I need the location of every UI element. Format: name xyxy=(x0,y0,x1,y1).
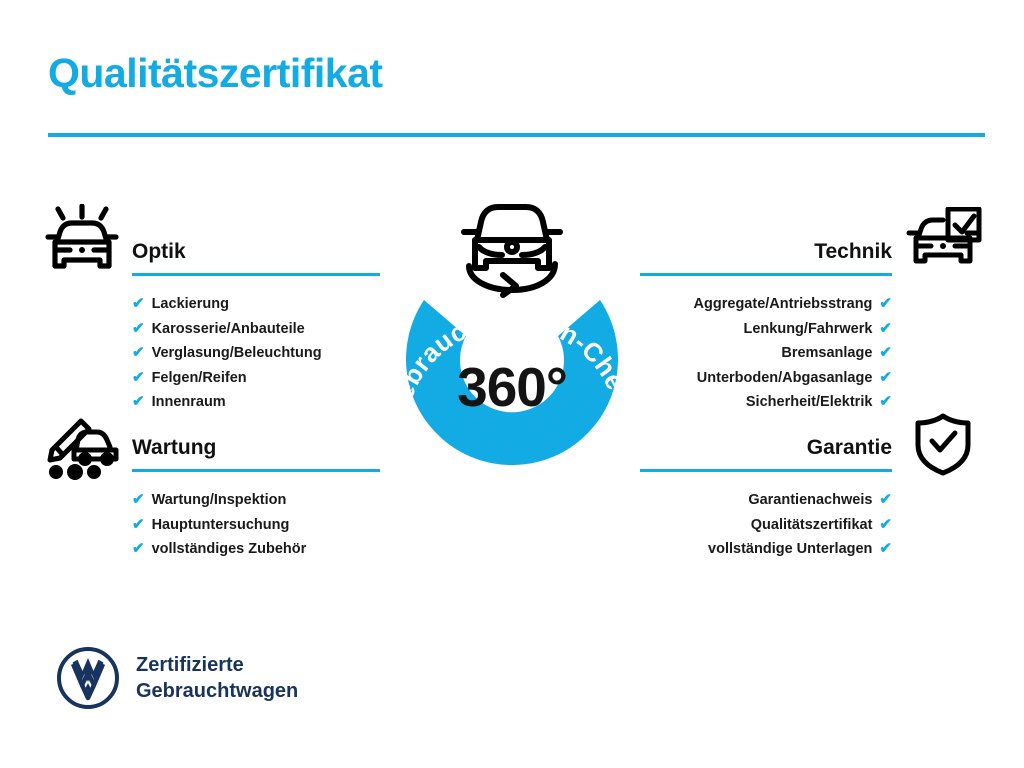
section-garantie: Garantie Garantienachweis ✔ Qualitätszer… xyxy=(640,434,892,562)
section-header: Technik xyxy=(640,238,892,278)
list-item-label: Sicherheit/Elektrik xyxy=(746,391,873,415)
header-divider xyxy=(48,133,985,137)
check-icon: ✔ xyxy=(879,341,892,365)
section-header: Wartung xyxy=(132,434,380,474)
list-item-label: Aggregate/Antriebsstrang xyxy=(694,293,873,317)
check-icon: ✔ xyxy=(132,292,145,316)
check-icon: ✔ xyxy=(879,537,892,561)
list-item-label: Felgen/Reifen xyxy=(152,367,247,391)
section-technik: Technik Aggregate/Antriebsstrang ✔ Lenku… xyxy=(640,238,892,415)
check-icon: ✔ xyxy=(132,513,145,537)
list-item: Qualitätszertifikat ✔ xyxy=(640,513,892,538)
checklist: ✔ Lackierung ✔ Karosserie/Anbauteile ✔ V… xyxy=(132,292,380,415)
check-icon: ✔ xyxy=(132,390,145,414)
check-icon: ✔ xyxy=(132,317,145,341)
list-item: ✔ Felgen/Reifen xyxy=(132,366,380,391)
list-item: ✔ Innenraum xyxy=(132,390,380,415)
check-icon: ✔ xyxy=(879,366,892,390)
footer-brand-text: Zertifizierte Gebrauchtwagen xyxy=(136,652,298,704)
car-rotate-icon xyxy=(450,192,574,302)
list-item: Unterboden/Abgasanlage ✔ xyxy=(640,366,892,391)
list-item: ✔ Wartung/Inspektion xyxy=(132,488,380,513)
section-underline xyxy=(640,273,892,276)
checklist: ✔ Wartung/Inspektion ✔ Hauptuntersuchung… xyxy=(132,488,380,562)
list-item-label: Karosserie/Anbauteile xyxy=(152,318,305,342)
section-title: Wartung xyxy=(132,434,380,462)
list-item: ✔ Verglasung/Beleuchtung xyxy=(132,341,380,366)
check-icon: ✔ xyxy=(132,537,145,561)
check-icon: ✔ xyxy=(879,390,892,414)
list-item: ✔ Lackierung xyxy=(132,292,380,317)
check-icon: ✔ xyxy=(879,317,892,341)
list-item-label: Hauptuntersuchung xyxy=(152,514,290,538)
footer-line-1: Zertifizierte xyxy=(136,652,298,678)
section-underline xyxy=(132,469,380,472)
list-item: Garantienachweis ✔ xyxy=(640,488,892,513)
check-icon: ✔ xyxy=(132,366,145,390)
section-underline xyxy=(132,273,380,276)
section-wartung: Wartung ✔ Wartung/Inspektion ✔ Hauptunte… xyxy=(132,434,380,562)
list-item-label: Qualitätszertifikat xyxy=(751,514,873,538)
section-title: Garantie xyxy=(640,434,892,462)
check-icon: ✔ xyxy=(879,513,892,537)
list-item-label: Verglasung/Beleuchtung xyxy=(152,342,322,366)
car-service-tool-icon xyxy=(44,414,122,485)
footer-line-2: Gebrauchtwagen xyxy=(136,678,298,704)
car-shine-icon xyxy=(44,204,122,283)
page-title: Qualitätszertifikat xyxy=(48,50,383,97)
list-item-label: Lenkung/Fahrwerk xyxy=(744,318,873,342)
section-optik: Optik ✔ Lackierung ✔ Karosserie/Anbautei… xyxy=(132,238,380,415)
check-icon: ✔ xyxy=(879,292,892,316)
check-icon: ✔ xyxy=(879,488,892,512)
list-item: ✔ vollständiges Zubehör xyxy=(132,537,380,562)
list-item: Aggregate/Antriebsstrang ✔ xyxy=(640,292,892,317)
list-item: Bremsanlage ✔ xyxy=(640,341,892,366)
list-item-label: Garantienachweis xyxy=(748,489,872,513)
list-item: ✔ Karosserie/Anbauteile xyxy=(132,317,380,342)
section-header: Optik xyxy=(132,238,380,278)
section-title: Optik xyxy=(132,238,380,266)
list-item-label: Lackierung xyxy=(152,293,229,317)
footer-brand: Zertifizierte Gebrauchtwagen xyxy=(56,646,298,710)
list-item-label: vollständiges Zubehör xyxy=(152,538,307,562)
list-item-label: Unterboden/Abgasanlage xyxy=(697,367,873,391)
list-item-label: Innenraum xyxy=(152,391,226,415)
section-underline xyxy=(640,469,892,472)
list-item: ✔ Hauptuntersuchung xyxy=(132,513,380,538)
list-item-label: vollständige Unterlagen xyxy=(708,538,872,562)
car-checkbox-icon xyxy=(906,207,982,278)
gebrauchtwagen-check-badge: Gebrauchtwagen-Check 360° xyxy=(378,192,646,504)
list-item: Lenkung/Fahrwerk ✔ xyxy=(640,317,892,342)
section-header: Garantie xyxy=(640,434,892,474)
checklist: Garantienachweis ✔ Qualitätszertifikat ✔… xyxy=(640,488,892,562)
check-icon: ✔ xyxy=(132,341,145,365)
list-item: Sicherheit/Elektrik ✔ xyxy=(640,390,892,415)
checklist: Aggregate/Antriebsstrang ✔ Lenkung/Fahrw… xyxy=(640,292,892,415)
list-item-label: Wartung/Inspektion xyxy=(152,489,287,513)
section-title: Technik xyxy=(640,238,892,266)
check-icon: ✔ xyxy=(132,488,145,512)
list-item: vollständige Unterlagen ✔ xyxy=(640,537,892,562)
vw-logo-icon xyxy=(56,646,120,710)
list-item-label: Bremsanlage xyxy=(781,342,872,366)
shield-check-icon xyxy=(912,412,974,481)
